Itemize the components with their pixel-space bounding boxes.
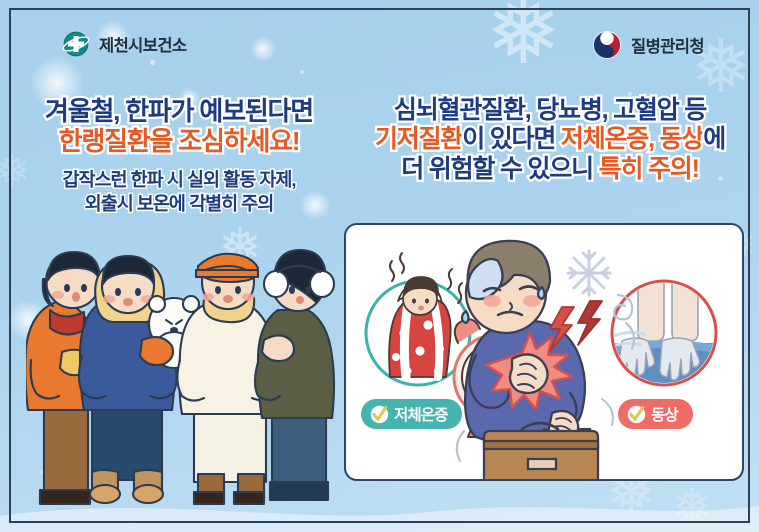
frostbite-badge-label: 동상	[651, 403, 678, 425]
illustration-panel: 저체온증 동상	[344, 223, 744, 481]
headline-segment: 기저질환	[375, 125, 462, 153]
health-center-cross-icon	[62, 30, 90, 58]
hypothermia-badge-label: 저체온증	[394, 403, 447, 425]
kdca-logo: 질병관리청	[592, 30, 704, 60]
headline-segment: 심뇌혈관질환, 당뇨병, 고혈압 등	[394, 96, 706, 124]
left-subtitle-line2: 외출시 보온에 각별히 주의	[14, 192, 344, 216]
right-headline-line1: 심뇌혈관질환, 당뇨병, 고혈압 등	[352, 96, 748, 125]
headline-segment: 저체온증, 동상	[561, 125, 703, 153]
right-headline-line2: 기저질환이 있다면 저체온증, 동상에	[352, 125, 748, 154]
right-headline-line3: 더 위험할 수 있으니 특히 주의!	[352, 155, 748, 184]
headline-segment: 특히 주의!	[599, 155, 699, 183]
headline-segment: 에	[703, 125, 725, 153]
left-column: 겨울철, 한파가 예보된다면 한랭질환을 조심하세요! 갑작스런 한파 시 실외…	[14, 96, 344, 217]
frostbite-badge: 동상	[618, 399, 693, 429]
four-people-winter-artwork	[26, 244, 344, 516]
left-headline-line1: 겨울철, 한파가 예보된다면	[14, 96, 344, 126]
winter-cold-health-poster: ❅ ❅ ❅ ❅ ❅ ❅ ❅ 제천시보건소	[0, 0, 759, 532]
kdca-name: 질병관리청	[631, 33, 704, 57]
cold-illness-illustration	[346, 225, 742, 479]
taegeuk-government-icon	[592, 30, 622, 60]
hypothermia-badge: 저체온증	[361, 399, 462, 429]
check-icon	[370, 405, 389, 424]
poster-header: 제천시보건소 질병관리청	[0, 28, 759, 74]
check-icon	[627, 405, 646, 424]
health-center-logo: 제천시보건소	[62, 30, 186, 58]
left-headline-line2: 한랭질환을 조심하세요!	[14, 126, 344, 156]
right-column: 심뇌혈관질환, 당뇨병, 고혈압 등 기저질환이 있다면 저체온증, 동상에 더…	[352, 96, 748, 184]
headline-segment: 이 있다면	[462, 125, 561, 153]
left-subtitle-line1: 갑작스런 한파 시 실외 활동 자제,	[14, 168, 344, 192]
health-center-name: 제천시보건소	[99, 32, 186, 56]
headline-segment: 더 위험할 수 있으니	[401, 155, 598, 183]
man-clutching-chest	[462, 241, 602, 479]
